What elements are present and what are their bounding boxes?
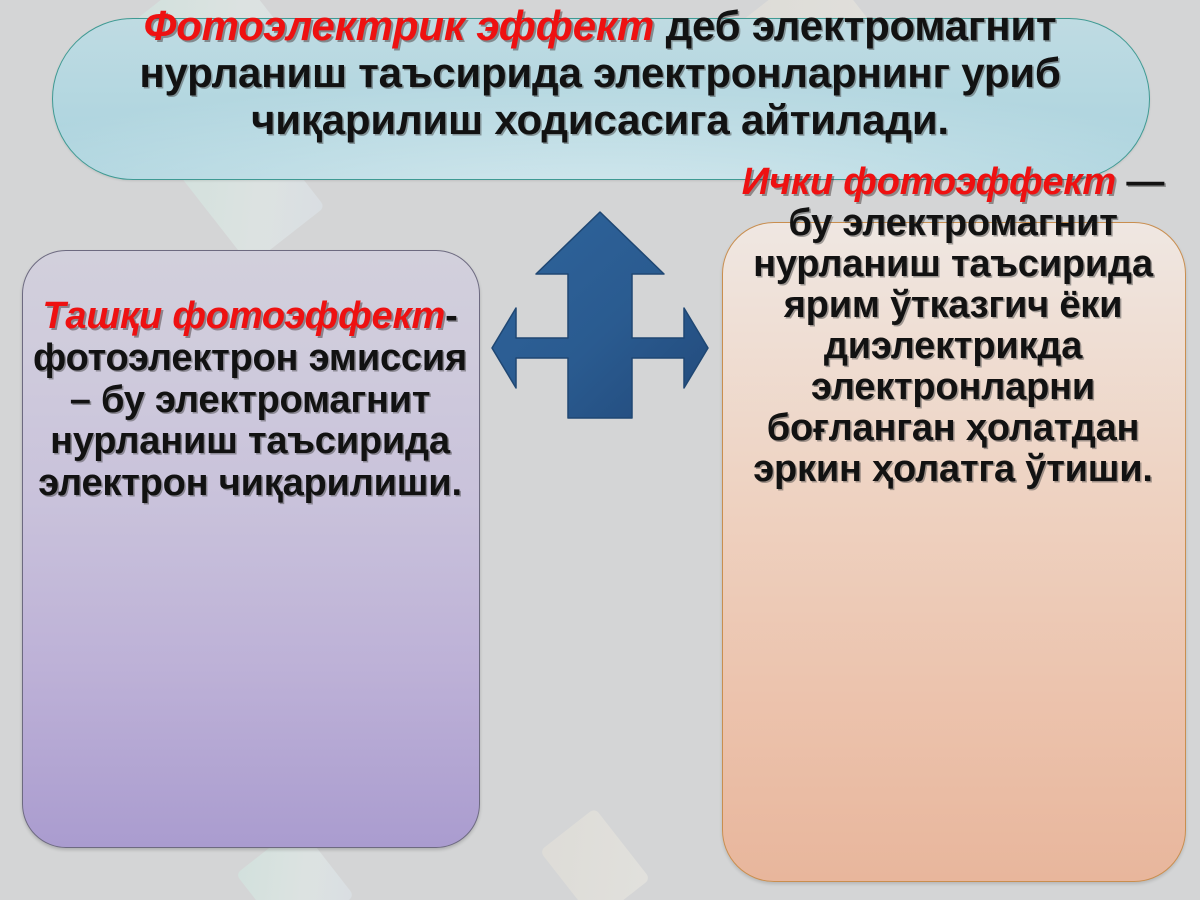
banner-text: Фотоэлектрик эффект деб электромагнит ну… (60, 2, 1140, 143)
watermark-shape (540, 808, 651, 900)
external-photoeffect-emphasis: Ташқи фотоэффект (42, 295, 445, 337)
internal-photoeffect-text: Ички фотоэффект — бу электромагнит нурла… (726, 162, 1180, 490)
external-photoeffect-text: Ташқи фотоэффект-фотоэлектрон эмиссия – … (30, 296, 470, 505)
slide-canvas: Фотоэлектрик эффект деб электромагнит ну… (0, 0, 1200, 900)
banner-emphasis: Фотоэлектрик эффект (144, 2, 654, 49)
internal-photoeffect-emphasis: Ички фотоэффект (742, 161, 1116, 203)
internal-photoeffect-body: — бу электромагнит нурланиш таъсирида яр… (753, 161, 1164, 490)
three-way-arrow-icon (488, 208, 712, 458)
